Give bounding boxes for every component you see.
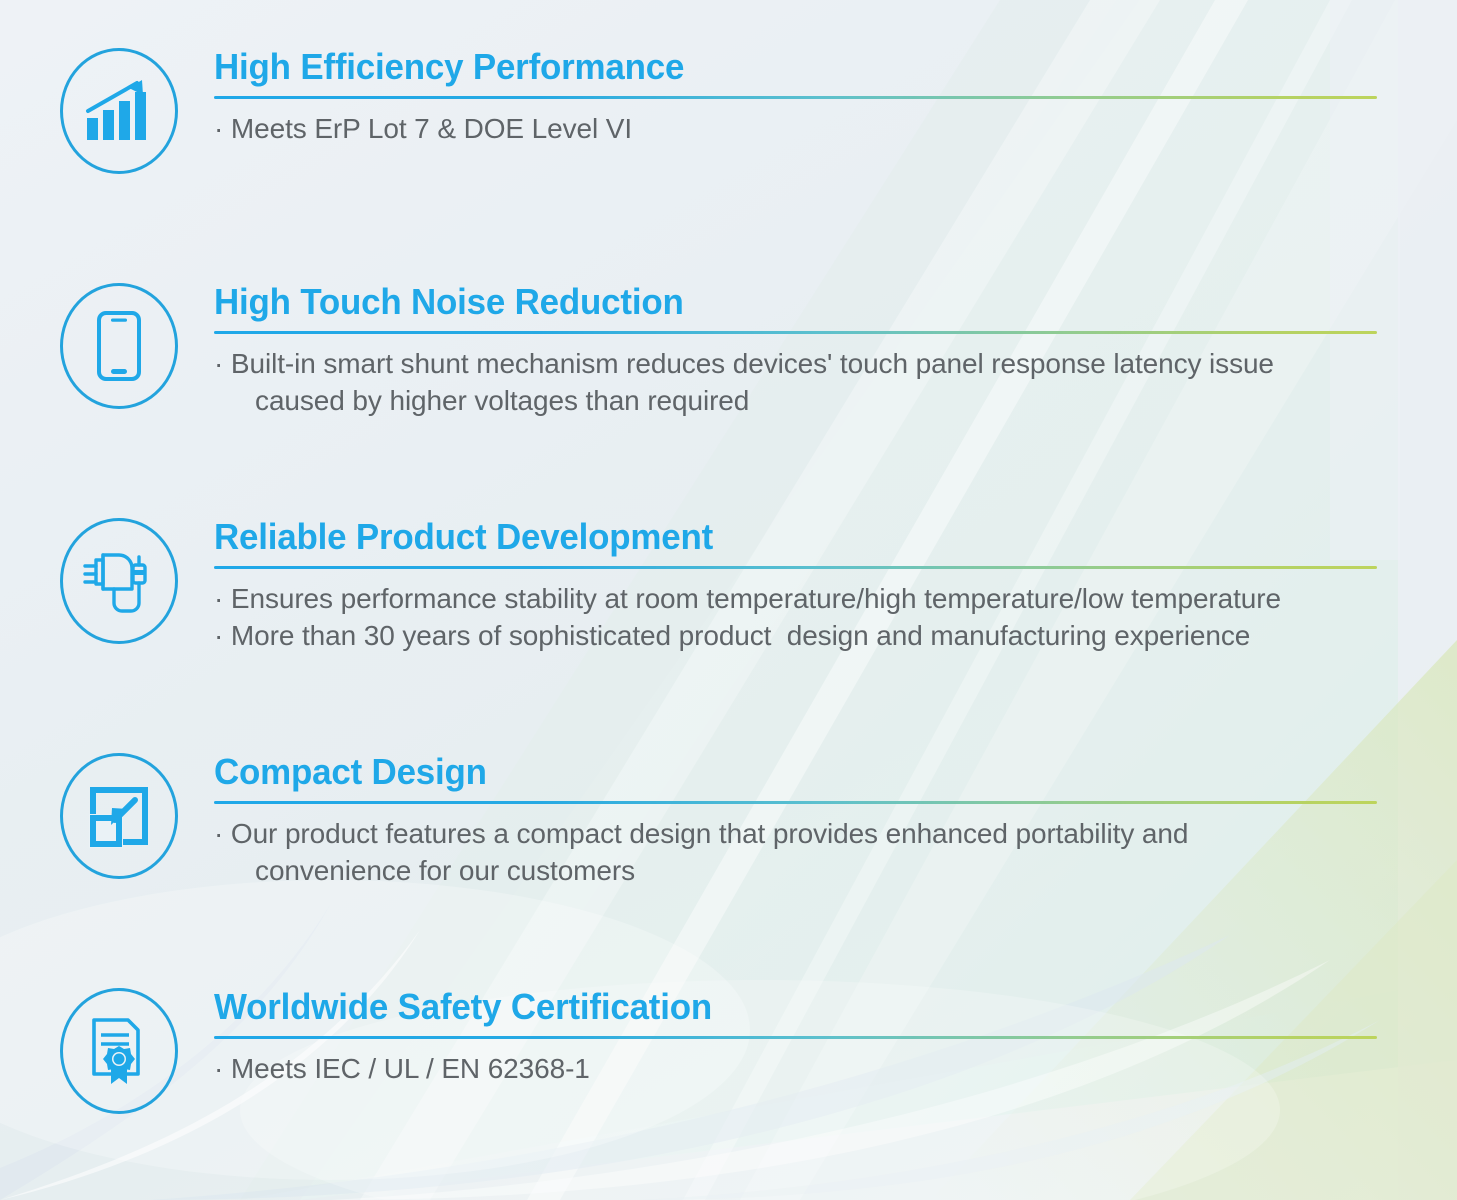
feature-bullet: · Ensures performance stability at room … [214, 580, 1457, 618]
feature-bullet: · Our product features a compact design … [214, 815, 1457, 890]
feature-bullet: · Meets IEC / UL / EN 62368-1 [214, 1050, 1457, 1088]
feature-title: High Touch Noise Reduction [214, 283, 1420, 322]
feature-bullet: · More than 30 years of sophisticated pr… [214, 617, 1457, 655]
feature-icon-wrap [0, 988, 180, 1114]
feature-title: Worldwide Safety Certification [214, 988, 1420, 1027]
feature-title: Compact Design [214, 753, 1420, 792]
feature-bullets: · Built-in smart shunt mechanism reduces… [214, 345, 1457, 420]
bar-chart-growth-icon [60, 48, 178, 174]
feature-item-high-efficiency-performance: High Efficiency Performance · Meets ErP … [0, 48, 1457, 174]
feature-divider [214, 1036, 1377, 1039]
feature-highlights-page: High Efficiency Performance · Meets ErP … [0, 0, 1457, 1200]
feature-bullet: · Meets ErP Lot 7 & DOE Level VI [214, 110, 1457, 148]
feature-icon-wrap [0, 518, 180, 644]
feature-body: High Touch Noise Reduction · Built-in sm… [180, 283, 1457, 420]
smartphone-icon [60, 283, 178, 409]
feature-body: Reliable Product Development · Ensures p… [180, 518, 1457, 655]
features-list: High Efficiency Performance · Meets ErP … [0, 0, 1457, 1200]
feature-divider [214, 331, 1377, 334]
feature-title: High Efficiency Performance [214, 48, 1420, 87]
feature-divider [214, 801, 1377, 804]
feature-icon-wrap [0, 753, 180, 879]
feature-title: Reliable Product Development [214, 518, 1420, 557]
feature-divider [214, 566, 1377, 569]
certificate-award-icon [60, 988, 178, 1114]
feature-bullets: · Ensures performance stability at room … [214, 580, 1457, 655]
feature-icon-wrap [0, 283, 180, 409]
feature-bullets: · Meets ErP Lot 7 & DOE Level VI [214, 110, 1457, 148]
feature-divider [214, 96, 1377, 99]
feature-item-high-touch-noise-reduction: High Touch Noise Reduction · Built-in sm… [0, 283, 1457, 420]
feature-body: Compact Design · Our product features a … [180, 753, 1457, 890]
power-adapter-icon [60, 518, 178, 644]
feature-body: Worldwide Safety Certification · Meets I… [180, 988, 1457, 1087]
feature-item-reliable-product-development: Reliable Product Development · Ensures p… [0, 518, 1457, 655]
feature-bullets: · Our product features a compact design … [214, 815, 1457, 890]
feature-bullets: · Meets IEC / UL / EN 62368-1 [214, 1050, 1457, 1088]
feature-icon-wrap [0, 48, 180, 174]
feature-item-compact-design: Compact Design · Our product features a … [0, 753, 1457, 890]
compact-resize-icon [60, 753, 178, 879]
feature-item-worldwide-safety-certification: Worldwide Safety Certification · Meets I… [0, 988, 1457, 1114]
feature-bullet: · Built-in smart shunt mechanism reduces… [214, 345, 1457, 420]
feature-body: High Efficiency Performance · Meets ErP … [180, 48, 1457, 147]
